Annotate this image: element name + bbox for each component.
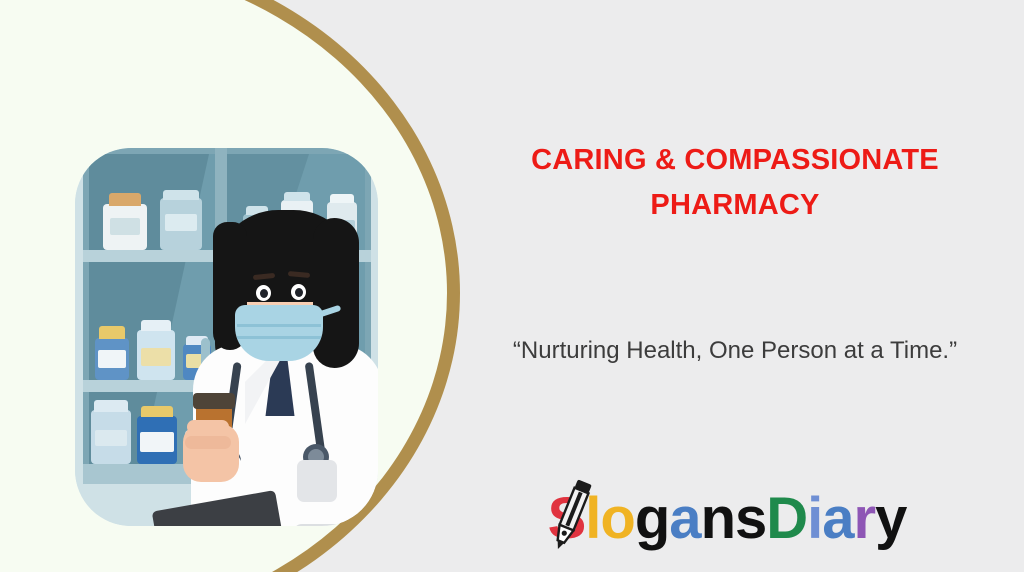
pharmacist-illustration [75, 148, 378, 526]
coat-chest-pocket [297, 460, 337, 502]
poster-canvas: CARING & COMPASSIONATE PHARMACY “Nurturi… [0, 0, 1024, 572]
headline: CARING & COMPASSIONATE PHARMACY [455, 138, 1015, 228]
mask-pleat-1 [237, 324, 321, 327]
headline-line-2: PHARMACY [455, 183, 1015, 228]
jar-mid-1-label [98, 350, 126, 368]
coat-side-pocket [293, 524, 345, 526]
jar-top-2-label [165, 214, 197, 231]
pharmacist-hair-side-right [313, 218, 359, 368]
logo-letter-3: g [635, 486, 669, 551]
jar-top-2-lid [163, 190, 199, 200]
jar-mid-2-label [141, 348, 171, 366]
logo-letter-5: n [701, 486, 735, 551]
logo-letter-7: D [766, 486, 807, 551]
pharmacist-pupil-left [260, 289, 268, 298]
jar-bot-2-label [140, 432, 174, 452]
hand-finger-2 [185, 436, 231, 449]
pill-bottle-cap [193, 393, 235, 409]
jar-top-4-lid [284, 192, 310, 201]
hand-finger-1 [187, 420, 229, 434]
slogansdiary-logo[interactable]: SlogansDiary [492, 483, 962, 555]
logo-letter-2: o [600, 486, 634, 551]
logo-letter-8: i [807, 486, 822, 551]
logo-letter-10: r [854, 486, 876, 551]
jar-mid-1-lid [99, 326, 125, 339]
logo-letter-11: y [875, 486, 906, 551]
jar-bot-2-lid [141, 406, 173, 417]
mask-pleat-2 [237, 336, 321, 339]
surgical-mask-icon [235, 305, 323, 361]
headline-line-1: CARING & COMPASSIONATE [455, 138, 1015, 183]
slogan-quote: “Nurturing Health, One Person at a Time.… [495, 333, 975, 369]
fountain-pen-icon [544, 477, 596, 553]
logo-letter-4: a [669, 486, 700, 551]
pharmacist-pupil-right [295, 288, 303, 297]
jar-top-5-lid [330, 194, 354, 203]
jar-mid-2-lid [141, 320, 171, 331]
jar-bot-1-label [95, 430, 127, 446]
logo-letter-6: s [735, 486, 766, 551]
jar-top-1-label [110, 218, 140, 235]
jar-bot-1-lid [94, 400, 128, 412]
hand-finger-3 [185, 450, 231, 463]
jar-top-1-lid [109, 193, 141, 206]
logo-letter-9: a [822, 486, 853, 551]
